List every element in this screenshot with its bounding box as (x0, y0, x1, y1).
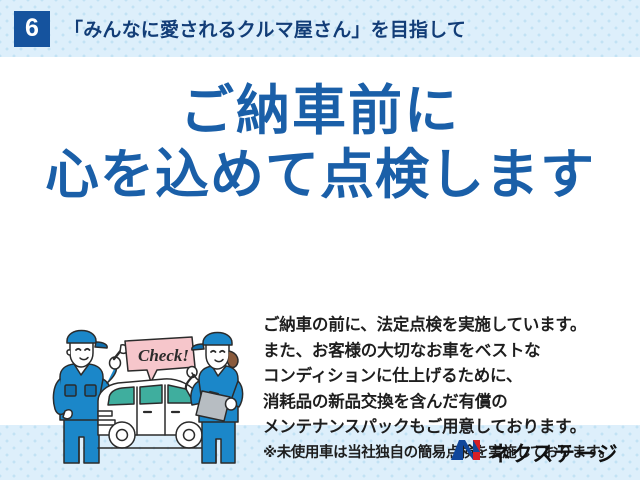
content-panel: ご納車前に 心を込めて点検します ご納車の前に、法定点検を実施しています。 また… (0, 57, 640, 425)
page-header: 6 「みんなに愛されるクルマ屋さん」を目指して (0, 0, 640, 57)
body-line-3: コンディションに仕上げるために、 (263, 367, 522, 385)
header-title: 「みんなに愛されるクルマ屋さん」を目指して (64, 15, 466, 42)
headline: ご納車前に 心を込めて点検します (0, 79, 640, 207)
check-bubble-label: Check! (138, 346, 189, 365)
headline-line-2: 心を込めて点検します (0, 143, 640, 207)
nextage-logo: ネクステージ (449, 438, 618, 468)
body-line-1: ご納車の前に、法定点検を実施しています。 (263, 316, 586, 334)
advertisement-page: 6 「みんなに愛されるクルマ屋さん」を目指して ご納車前に 心を込めて点検します… (0, 0, 640, 480)
brand-name: ネクステージ (490, 438, 618, 468)
page-footer: ネクステージ (0, 425, 640, 480)
body-line-2: また、お客様の大切なお車をベストな (263, 342, 540, 360)
nextage-n-mark-icon (449, 438, 483, 467)
headline-line-1: ご納車前に (0, 79, 640, 143)
body-line-4: 消耗品の新品交換を含んだ有償の (263, 393, 508, 411)
check-speech-bubble: Check! (125, 337, 195, 382)
section-number-badge: 6 (14, 11, 50, 47)
